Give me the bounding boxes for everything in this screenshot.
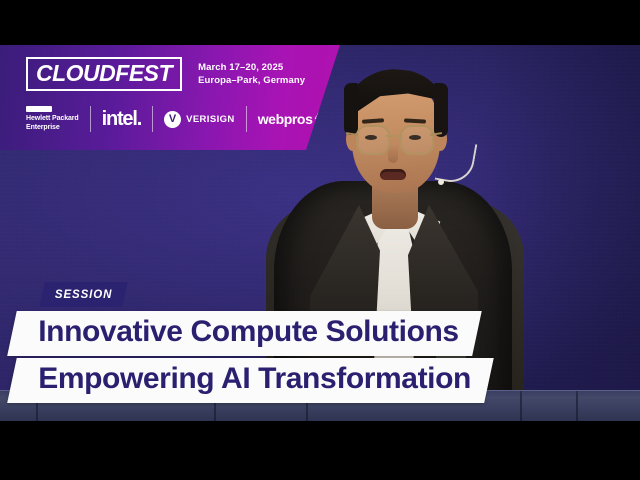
intel-wordmark: intel. [102, 109, 141, 129]
session-title-line-2: Empowering AI Transformation [7, 358, 493, 403]
hpe-label-line1: Hewlett Packard [26, 115, 79, 123]
verisign-wordmark: VERISIGN [186, 114, 235, 125]
speaker-mouth [380, 169, 406, 180]
sponsor-intel: intel. [91, 104, 152, 134]
sponsor-verisign: V VERISIGN [153, 104, 246, 134]
speaker-hair-side-right [434, 83, 448, 137]
lower-third-overlay: SESSION Innovative Compute Solutions Emp… [0, 282, 640, 403]
session-badge-label: SESSION [55, 289, 112, 301]
headset-mic-capsule [438, 179, 444, 185]
event-dates: March 17–20, 2025 [198, 61, 305, 74]
glasses-lens-left-icon [356, 125, 390, 155]
cloudfest-logo-text: CLOUDFEST [36, 62, 172, 85]
video-content-area[interactable]: CLOUDFEST March 17–20, 2025 Europa–Park,… [0, 45, 640, 421]
banner-top-row: CLOUDFEST March 17–20, 2025 Europa–Park,… [26, 57, 340, 91]
sponsor-hewlett-packard-enterprise: Hewlett Packard Enterprise [26, 104, 90, 134]
event-location: Europa–Park, Germany [198, 74, 305, 87]
letterbox-bar-top [0, 0, 640, 45]
speaker-nose [388, 145, 398, 163]
session-badge: SESSION [39, 282, 128, 307]
cloudfest-logo: CLOUDFEST [26, 57, 182, 91]
sponsor-logo-row: Hewlett Packard Enterprise intel. V VERI… [26, 104, 340, 134]
session-title-text-2: Empowering AI Transformation [38, 361, 471, 398]
hpe-label-line2: Enterprise [26, 124, 79, 132]
webpros-wordmark: webpros [258, 111, 313, 127]
event-details: March 17–20, 2025 Europa–Park, Germany [198, 61, 305, 87]
verisign-circle-icon: V [164, 111, 181, 128]
video-frame: CLOUDFEST March 17–20, 2025 Europa–Park,… [0, 0, 640, 480]
letterbox-bar-bottom [0, 421, 640, 480]
cloudfest-event-banner: CLOUDFEST March 17–20, 2025 Europa–Park,… [0, 45, 340, 150]
glasses-bridge [386, 135, 400, 137]
glasses-lens-right-icon [400, 125, 434, 155]
speaker-hair-side-left [344, 83, 358, 135]
session-title-line-1: Innovative Compute Solutions [7, 311, 481, 356]
hpe-bar-icon [26, 106, 52, 112]
session-title-text-1: Innovative Compute Solutions [38, 314, 459, 351]
